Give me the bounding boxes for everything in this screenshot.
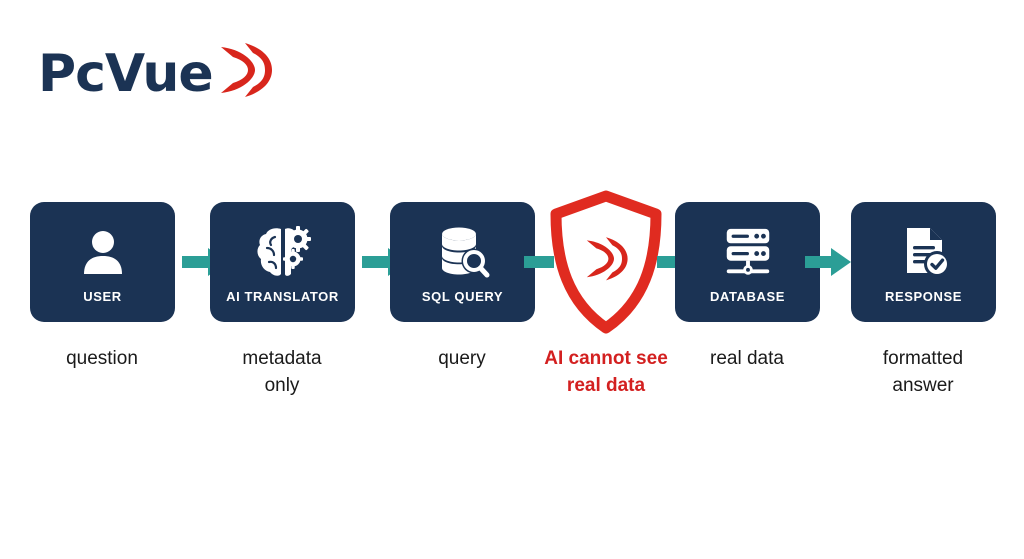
node-label: DATABASE <box>710 289 785 304</box>
node-label: AI TRANSLATOR <box>226 289 339 304</box>
node-sql-query[interactable]: SQL QUERY <box>390 202 535 322</box>
caption-text: real data <box>710 348 784 369</box>
node-label: SQL QUERY <box>422 289 503 304</box>
caption-text-line1: formatted <box>883 348 963 369</box>
arrow-right-icon <box>805 247 851 277</box>
server-rack-icon <box>720 224 776 280</box>
caption-text-line1: metadata <box>242 348 321 369</box>
document-check-icon <box>896 224 952 280</box>
caption-text: question <box>66 348 138 369</box>
caption-text: query <box>438 348 486 369</box>
pcvue-logo: PcVue <box>38 40 288 108</box>
caption-question: question <box>17 345 187 372</box>
person-icon <box>75 224 131 280</box>
logo-wordmark: PcVue <box>38 48 213 100</box>
caption-text-line2: only <box>265 375 300 396</box>
caption-row: question metadata only query AI cannot s… <box>0 345 1024 425</box>
node-label: USER <box>83 289 122 304</box>
flow-diagram: USER <box>0 202 1024 322</box>
caption-text-line1: AI cannot see <box>544 348 668 369</box>
caption-text-line2: answer <box>892 375 953 396</box>
caption-real-data: real data <box>662 345 832 372</box>
caption-formatted-answer: formatted answer <box>838 345 1008 399</box>
node-ai-translator[interactable]: AI TRANSLATOR <box>210 202 355 322</box>
database-search-icon <box>435 224 491 280</box>
brain-gears-icon <box>255 224 311 280</box>
node-database[interactable]: DATABASE <box>675 202 820 322</box>
caption-text-line2: real data <box>567 375 645 396</box>
node-response[interactable]: RESPONSE <box>851 202 996 322</box>
shield-pcvue-icon <box>548 190 664 334</box>
caption-metadata-only: metadata only <box>197 345 367 399</box>
node-label: RESPONSE <box>885 289 962 304</box>
pcvue-swoosh-icon <box>215 39 273 106</box>
node-user[interactable]: USER <box>30 202 175 322</box>
